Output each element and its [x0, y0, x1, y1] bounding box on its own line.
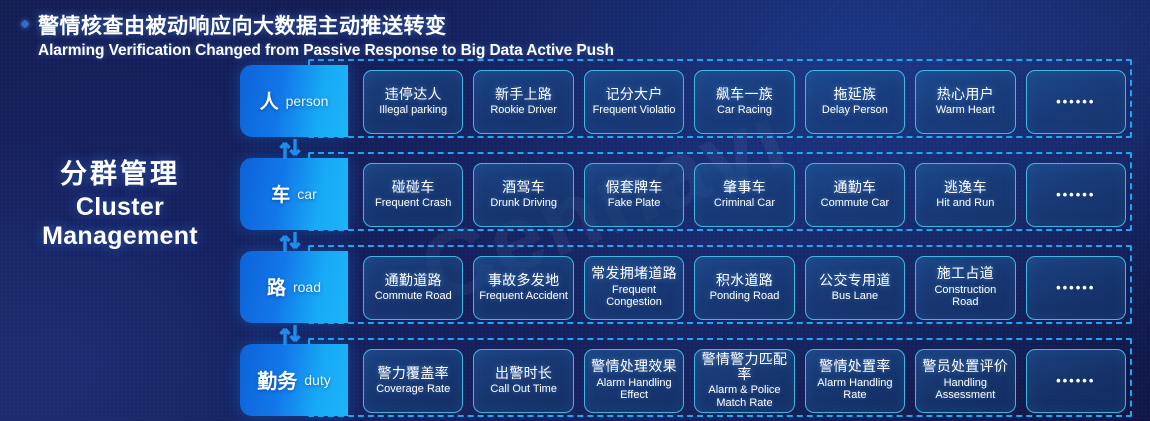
card-car-5[interactable]: 逃逸车Hit and Run — [915, 163, 1015, 227]
card-more-duty[interactable]: •••••• — [1026, 349, 1126, 413]
card-title-cn: 热心用户 — [937, 87, 994, 102]
card-title-en: Ponding Road — [710, 290, 780, 303]
card-title-cn: 拖延族 — [833, 87, 876, 102]
up-down-arrow-icon — [276, 230, 304, 254]
card-title-en: Warm Heart — [936, 104, 995, 117]
cluster-row-road: 路road通勤道路Commute Road事故多发地Frequent Accid… — [240, 241, 1140, 334]
card-title-cn: 事故多发地 — [488, 273, 560, 288]
category-label-cn: 路 — [267, 273, 286, 300]
card-person-0[interactable]: 违停达人Illegal parking — [363, 70, 463, 134]
card-title-en: Commute Road — [375, 290, 452, 303]
card-title-en: Alarm Handling Rate — [810, 377, 900, 402]
card-car-2[interactable]: 假套牌车Fake Plate — [584, 163, 684, 227]
cards-container-person: 违停达人Illegal parking新手上路Rookie Driver记分大户… — [348, 55, 1140, 148]
cluster-label-en-line1: Cluster — [0, 193, 240, 222]
diamond-bullet-icon — [21, 20, 29, 28]
card-more-person[interactable]: •••••• — [1026, 70, 1126, 134]
category-pill-car[interactable]: 车car — [240, 158, 348, 230]
page-header: 警情核查由被动响应向大数据主动推送转变 Alarming Verificatio… — [22, 10, 614, 60]
card-title-cn: 警情处置率 — [819, 359, 891, 374]
card-duty-0[interactable]: 警力覆盖率Coverage Rate — [363, 349, 463, 413]
up-down-arrow-icon — [276, 137, 304, 161]
card-title-cn: 公交专用道 — [819, 273, 891, 288]
card-title-en: Alarm & Police Match Rate — [699, 384, 789, 409]
card-title-cn: 通勤道路 — [385, 273, 442, 288]
card-title-cn: 警情警力匹配率 — [699, 352, 789, 382]
card-title-cn: 警力覆盖率 — [377, 366, 449, 381]
category-label-en: duty — [304, 372, 330, 388]
card-title-cn: 记分大户 — [605, 87, 662, 102]
card-more-car[interactable]: •••••• — [1026, 163, 1126, 227]
card-duty-1[interactable]: 出警时长Call Out Time — [473, 349, 573, 413]
more-dots-icon: •••••• — [1056, 280, 1095, 295]
more-dots-icon: •••••• — [1056, 94, 1095, 109]
cluster-label-cn: 分群管理 — [0, 152, 240, 191]
card-car-3[interactable]: 肇事车Criminal Car — [694, 163, 794, 227]
more-dots-icon: •••••• — [1056, 187, 1095, 202]
card-title-cn: 碰碰车 — [392, 180, 435, 195]
card-duty-4[interactable]: 警情处置率Alarm Handling Rate — [805, 349, 905, 413]
more-dots-icon: •••••• — [1056, 373, 1095, 388]
card-title-en: Hit and Run — [936, 197, 994, 210]
card-road-2[interactable]: 常发拥堵道路Frequent Congestion — [584, 256, 684, 320]
category-label-cn: 车 — [271, 180, 290, 207]
card-title-cn: 通勤车 — [833, 180, 876, 195]
row-content-car: 车car碰碰车Frequent Crash酒驾车Drunk Driving假套牌… — [240, 148, 1140, 241]
row-content-person: 人person违停达人Illegal parking新手上路Rookie Dri… — [240, 55, 1140, 148]
card-title-en: Coverage Rate — [376, 383, 450, 396]
page-title-cn: 警情核查由被动响应向大数据主动推送转变 — [38, 10, 447, 40]
card-title-cn: 飙车一族 — [716, 87, 773, 102]
cluster-row-person: 人person违停达人Illegal parking新手上路Rookie Dri… — [240, 55, 1140, 148]
card-title-en: Fake Plate — [608, 197, 661, 210]
card-title-cn: 新手上路 — [495, 87, 552, 102]
card-title-en: Frequent Congestion — [589, 284, 679, 309]
card-title-cn: 酒驾车 — [502, 180, 545, 195]
category-pill-person[interactable]: 人person — [240, 65, 348, 137]
card-title-cn: 假套牌车 — [605, 180, 662, 195]
card-person-2[interactable]: 记分大户Frequent Violatio — [584, 70, 684, 134]
card-title-en: Alarm Handling Effect — [589, 377, 679, 402]
cluster-row-duty: 勤务duty警力覆盖率Coverage Rate出警时长Call Out Tim… — [240, 334, 1140, 421]
card-title-cn: 逃逸车 — [944, 180, 987, 195]
cluster-label-en-line2: Management — [0, 222, 240, 251]
category-label-cn: 人 — [260, 87, 279, 114]
category-pill-duty[interactable]: 勤务duty — [240, 344, 348, 416]
card-car-1[interactable]: 酒驾车Drunk Driving — [473, 163, 573, 227]
card-person-5[interactable]: 热心用户Warm Heart — [915, 70, 1015, 134]
up-down-arrow-icon — [276, 323, 304, 347]
card-title-cn: 施工占道 — [937, 266, 994, 281]
card-road-3[interactable]: 积水道路Ponding Road — [694, 256, 794, 320]
row-content-road: 路road通勤道路Commute Road事故多发地Frequent Accid… — [240, 241, 1140, 334]
card-title-cn: 警员处置评价 — [922, 359, 1008, 374]
cluster-rows-container: 人person违停达人Illegal parking新手上路Rookie Dri… — [240, 55, 1140, 421]
card-title-en: Commute Car — [821, 197, 889, 210]
card-road-0[interactable]: 通勤道路Commute Road — [363, 256, 463, 320]
cards-container-road: 通勤道路Commute Road事故多发地Frequent Accident常发… — [348, 241, 1140, 334]
card-road-1[interactable]: 事故多发地Frequent Accident — [473, 256, 573, 320]
card-title-cn: 违停达人 — [385, 87, 442, 102]
category-label-en: road — [293, 279, 321, 295]
card-title-cn: 积水道路 — [716, 273, 773, 288]
card-title-en: Frequent Accident — [479, 290, 568, 303]
category-label-en: car — [297, 186, 316, 202]
card-title-en: Drunk Driving — [490, 197, 557, 210]
card-title-en: Frequent Crash — [375, 197, 451, 210]
card-title-cn: 常发拥堵道路 — [591, 266, 677, 281]
card-title-en: Criminal Car — [714, 197, 775, 210]
card-title-en: Illegal parking — [379, 104, 447, 117]
card-title-en: Delay Person — [822, 104, 888, 117]
card-title-cn: 肇事车 — [723, 180, 766, 195]
card-duty-2[interactable]: 警情处理效果Alarm Handling Effect — [584, 349, 684, 413]
card-person-1[interactable]: 新手上路Rookie Driver — [473, 70, 573, 134]
card-title-cn: 出警时长 — [495, 366, 552, 381]
card-duty-3[interactable]: 警情警力匹配率Alarm & Police Match Rate — [694, 349, 794, 413]
card-car-0[interactable]: 碰碰车Frequent Crash — [363, 163, 463, 227]
row-content-duty: 勤务duty警力覆盖率Coverage Rate出警时长Call Out Tim… — [240, 334, 1140, 421]
card-title-en: Bus Lane — [832, 290, 878, 303]
category-pill-road[interactable]: 路road — [240, 251, 348, 323]
cluster-management-label: 分群管理 Cluster Management — [0, 152, 240, 251]
card-title-en: Handling Assessment — [920, 377, 1010, 402]
cards-container-car: 碰碰车Frequent Crash酒驾车Drunk Driving假套牌车Fak… — [348, 148, 1140, 241]
card-title-en: Rookie Driver — [490, 104, 557, 117]
card-more-road[interactable]: •••••• — [1026, 256, 1126, 320]
card-duty-5[interactable]: 警员处置评价Handling Assessment — [915, 349, 1015, 413]
category-label-en: person — [286, 93, 329, 109]
card-person-3[interactable]: 飙车一族Car Racing — [694, 70, 794, 134]
card-title-en: Construction Road — [920, 284, 1010, 309]
card-title-en: Car Racing — [717, 104, 772, 117]
card-car-4[interactable]: 通勤车Commute Car — [805, 163, 905, 227]
card-title-cn: 警情处理效果 — [591, 359, 677, 374]
card-road-4[interactable]: 公交专用道Bus Lane — [805, 256, 905, 320]
cards-container-duty: 警力覆盖率Coverage Rate出警时长Call Out Time警情处理效… — [348, 334, 1140, 421]
card-road-5[interactable]: 施工占道Construction Road — [915, 256, 1015, 320]
card-title-en: Frequent Violatio — [593, 104, 676, 117]
category-label-cn: 勤务 — [257, 365, 297, 394]
cluster-row-car: 车car碰碰车Frequent Crash酒驾车Drunk Driving假套牌… — [240, 148, 1140, 241]
card-person-4[interactable]: 拖延族Delay Person — [805, 70, 905, 134]
card-title-en: Call Out Time — [490, 383, 557, 396]
